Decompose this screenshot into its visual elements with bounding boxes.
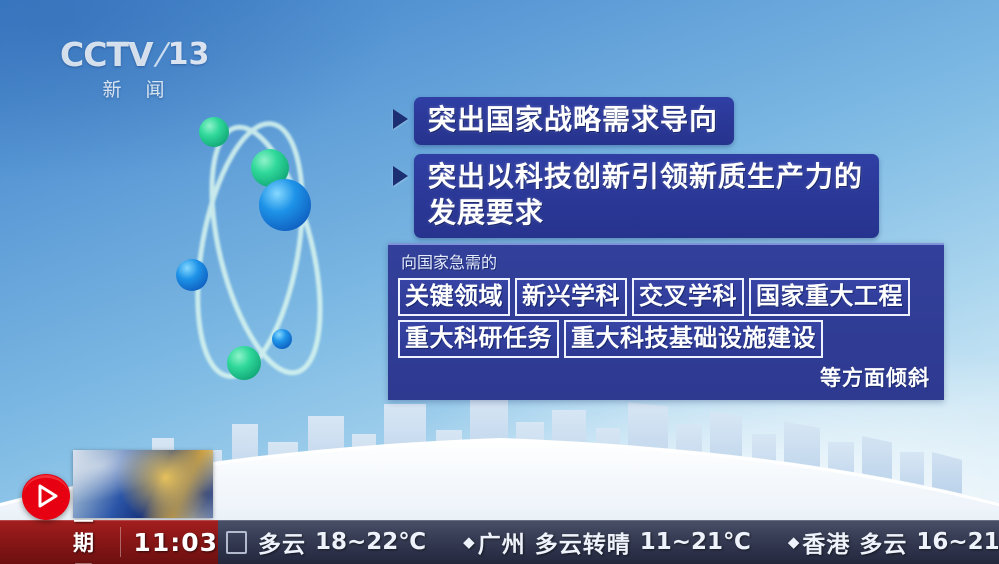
cctv-video-play-logo[interactable] bbox=[20, 472, 72, 522]
weather-temp: 16~21℃ bbox=[916, 529, 999, 555]
headline-box-2: 突出以科技创新引领新质生产力的 发展要求 bbox=[414, 154, 879, 238]
tag-item: 新兴学科 bbox=[515, 278, 627, 316]
tag-item: 国家重大工程 bbox=[749, 278, 910, 316]
weather-marker-icon bbox=[226, 531, 247, 554]
weather-temp: 11~21℃ bbox=[640, 529, 751, 555]
triangle-bullet-icon bbox=[393, 109, 408, 129]
panel-tail-text: 等方面倾斜 bbox=[398, 362, 930, 392]
headline-item-2: 突出以科技创新引领新质生产力的 发展要求 bbox=[393, 154, 913, 238]
headline-item-1: 突出国家战略需求导向 bbox=[393, 97, 913, 145]
weather-item-2: ◆ 广州 多云转晴 11~21℃ bbox=[463, 525, 751, 559]
channel-sub-label: 新 闻 bbox=[60, 75, 210, 102]
headline-line: 发展要求 bbox=[428, 195, 863, 231]
headline-line: 突出国家战略需求导向 bbox=[428, 102, 718, 138]
weather-item-3: ◆ 香港 多云 16~21℃ bbox=[788, 525, 999, 559]
diamond-icon: ◆ bbox=[463, 533, 475, 551]
tag-item: 关键领域 bbox=[398, 278, 510, 316]
promo-swoosh bbox=[73, 450, 213, 518]
channel-logo: CCTV / 13 新 闻 bbox=[60, 36, 210, 98]
cctv-wordmark: CCTV bbox=[60, 35, 153, 74]
headline-box-1: 突出国家战略需求导向 bbox=[414, 97, 734, 145]
weather-city: 广州 bbox=[478, 525, 526, 559]
weather-condition: 多云 bbox=[859, 525, 907, 559]
bottom-ticker-bar: 星期五 11:03 多云 18~22℃ ◆ 广州 多云转晴 11~21℃ ◆ 香… bbox=[0, 520, 999, 564]
molecule-orbit-graphic bbox=[158, 100, 358, 400]
channel-number: 13 bbox=[168, 37, 210, 72]
weather-temp: 18~22℃ bbox=[315, 529, 426, 555]
weather-condition: 多云转晴 bbox=[535, 525, 631, 559]
detail-panel: 向国家急需的 关键领域 新兴学科 交叉学科 国家重大工程 重大科研任务 重大科技… bbox=[388, 243, 944, 400]
weather-city: 香港 bbox=[802, 525, 850, 559]
broadcast-screen: CCTV / 13 新 闻 bbox=[0, 0, 999, 564]
diamond-icon: ◆ bbox=[788, 533, 800, 551]
tag-item: 交叉学科 bbox=[632, 278, 744, 316]
molecule-nodes bbox=[176, 117, 311, 380]
panel-subtitle: 向国家急需的 bbox=[401, 252, 934, 274]
weekday-label: 星期五 bbox=[73, 520, 107, 564]
tag-row-1: 关键领域 新兴学科 交叉学科 国家重大工程 bbox=[398, 278, 934, 316]
time-display: 星期五 11:03 bbox=[0, 520, 218, 564]
triangle-bullet-icon bbox=[393, 166, 408, 186]
tag-item: 重大科技基础设施建设 bbox=[564, 320, 823, 358]
tag-row-2: 重大科研任务 重大科技基础设施建设 bbox=[398, 320, 934, 358]
weather-item-1: 多云 18~22℃ bbox=[226, 525, 426, 559]
clock-label: 11:03 bbox=[133, 528, 218, 557]
headline-line: 突出以科技创新引领新质生产力的 bbox=[428, 159, 863, 195]
tag-item: 重大科研任务 bbox=[398, 320, 559, 358]
weather-condition: 多云 bbox=[258, 525, 306, 559]
promo-banner-graphic bbox=[73, 450, 213, 518]
headline-list: 突出国家战略需求导向 突出以科技创新引领新质生产力的 发展要求 bbox=[393, 97, 913, 247]
